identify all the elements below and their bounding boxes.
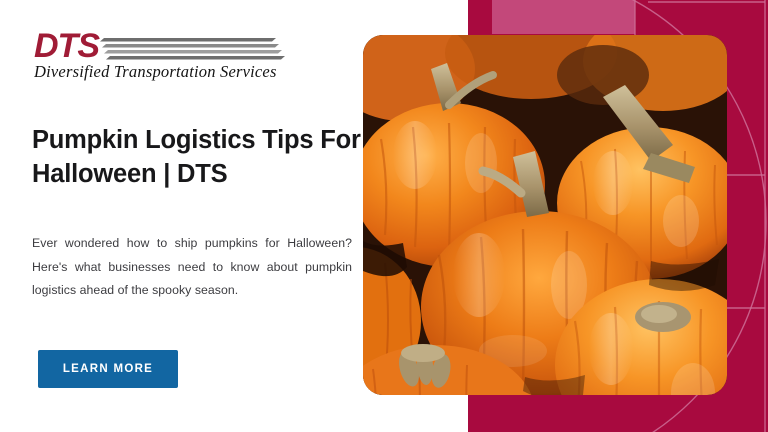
dts-logo: DTS Diversified Transportation Services	[34, 26, 292, 82]
logo-svg: DTS Diversified Transportation Services	[34, 26, 292, 82]
logo-tagline: Diversified Transportation Services	[34, 62, 277, 81]
body-text: Ever wondered how to ship pumpkins for H…	[32, 232, 352, 303]
logo-wordmark: DTS	[34, 27, 100, 65]
pumpkin-photo	[363, 35, 727, 395]
speed-lines-icon	[100, 38, 285, 60]
learn-more-button[interactable]: LEARN MORE	[38, 350, 178, 388]
banner-canvas: DTS Diversified Transportation Services …	[0, 0, 768, 432]
page-title: Pumpkin Logistics Tips For Halloween | D…	[32, 124, 362, 191]
